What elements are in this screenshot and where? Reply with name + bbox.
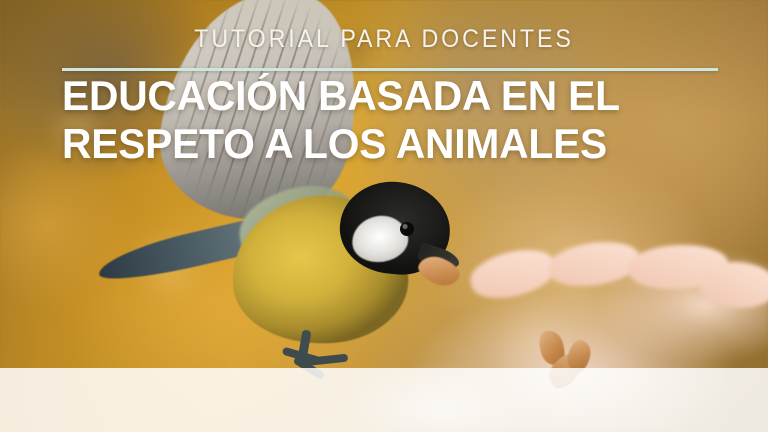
footer-bar: U SC UNIVERSIDADE DE SANTIAGO DE COMPOST… [0, 368, 768, 432]
slide-canvas: TUTORIAL PARA DOCENTES EDUCACIÓN BASADA … [0, 0, 768, 432]
title-line-2: RESPETO A LOS ANIMALES [62, 124, 702, 164]
kicker-text: TUTORIAL PARA DOCENTES [27, 27, 741, 52]
divider-rule [62, 68, 718, 71]
page-title: EDUCACIÓN BASADA EN EL RESPETO A LOS ANI… [62, 76, 702, 164]
title-line-1: EDUCACIÓN BASADA EN EL [62, 76, 702, 116]
